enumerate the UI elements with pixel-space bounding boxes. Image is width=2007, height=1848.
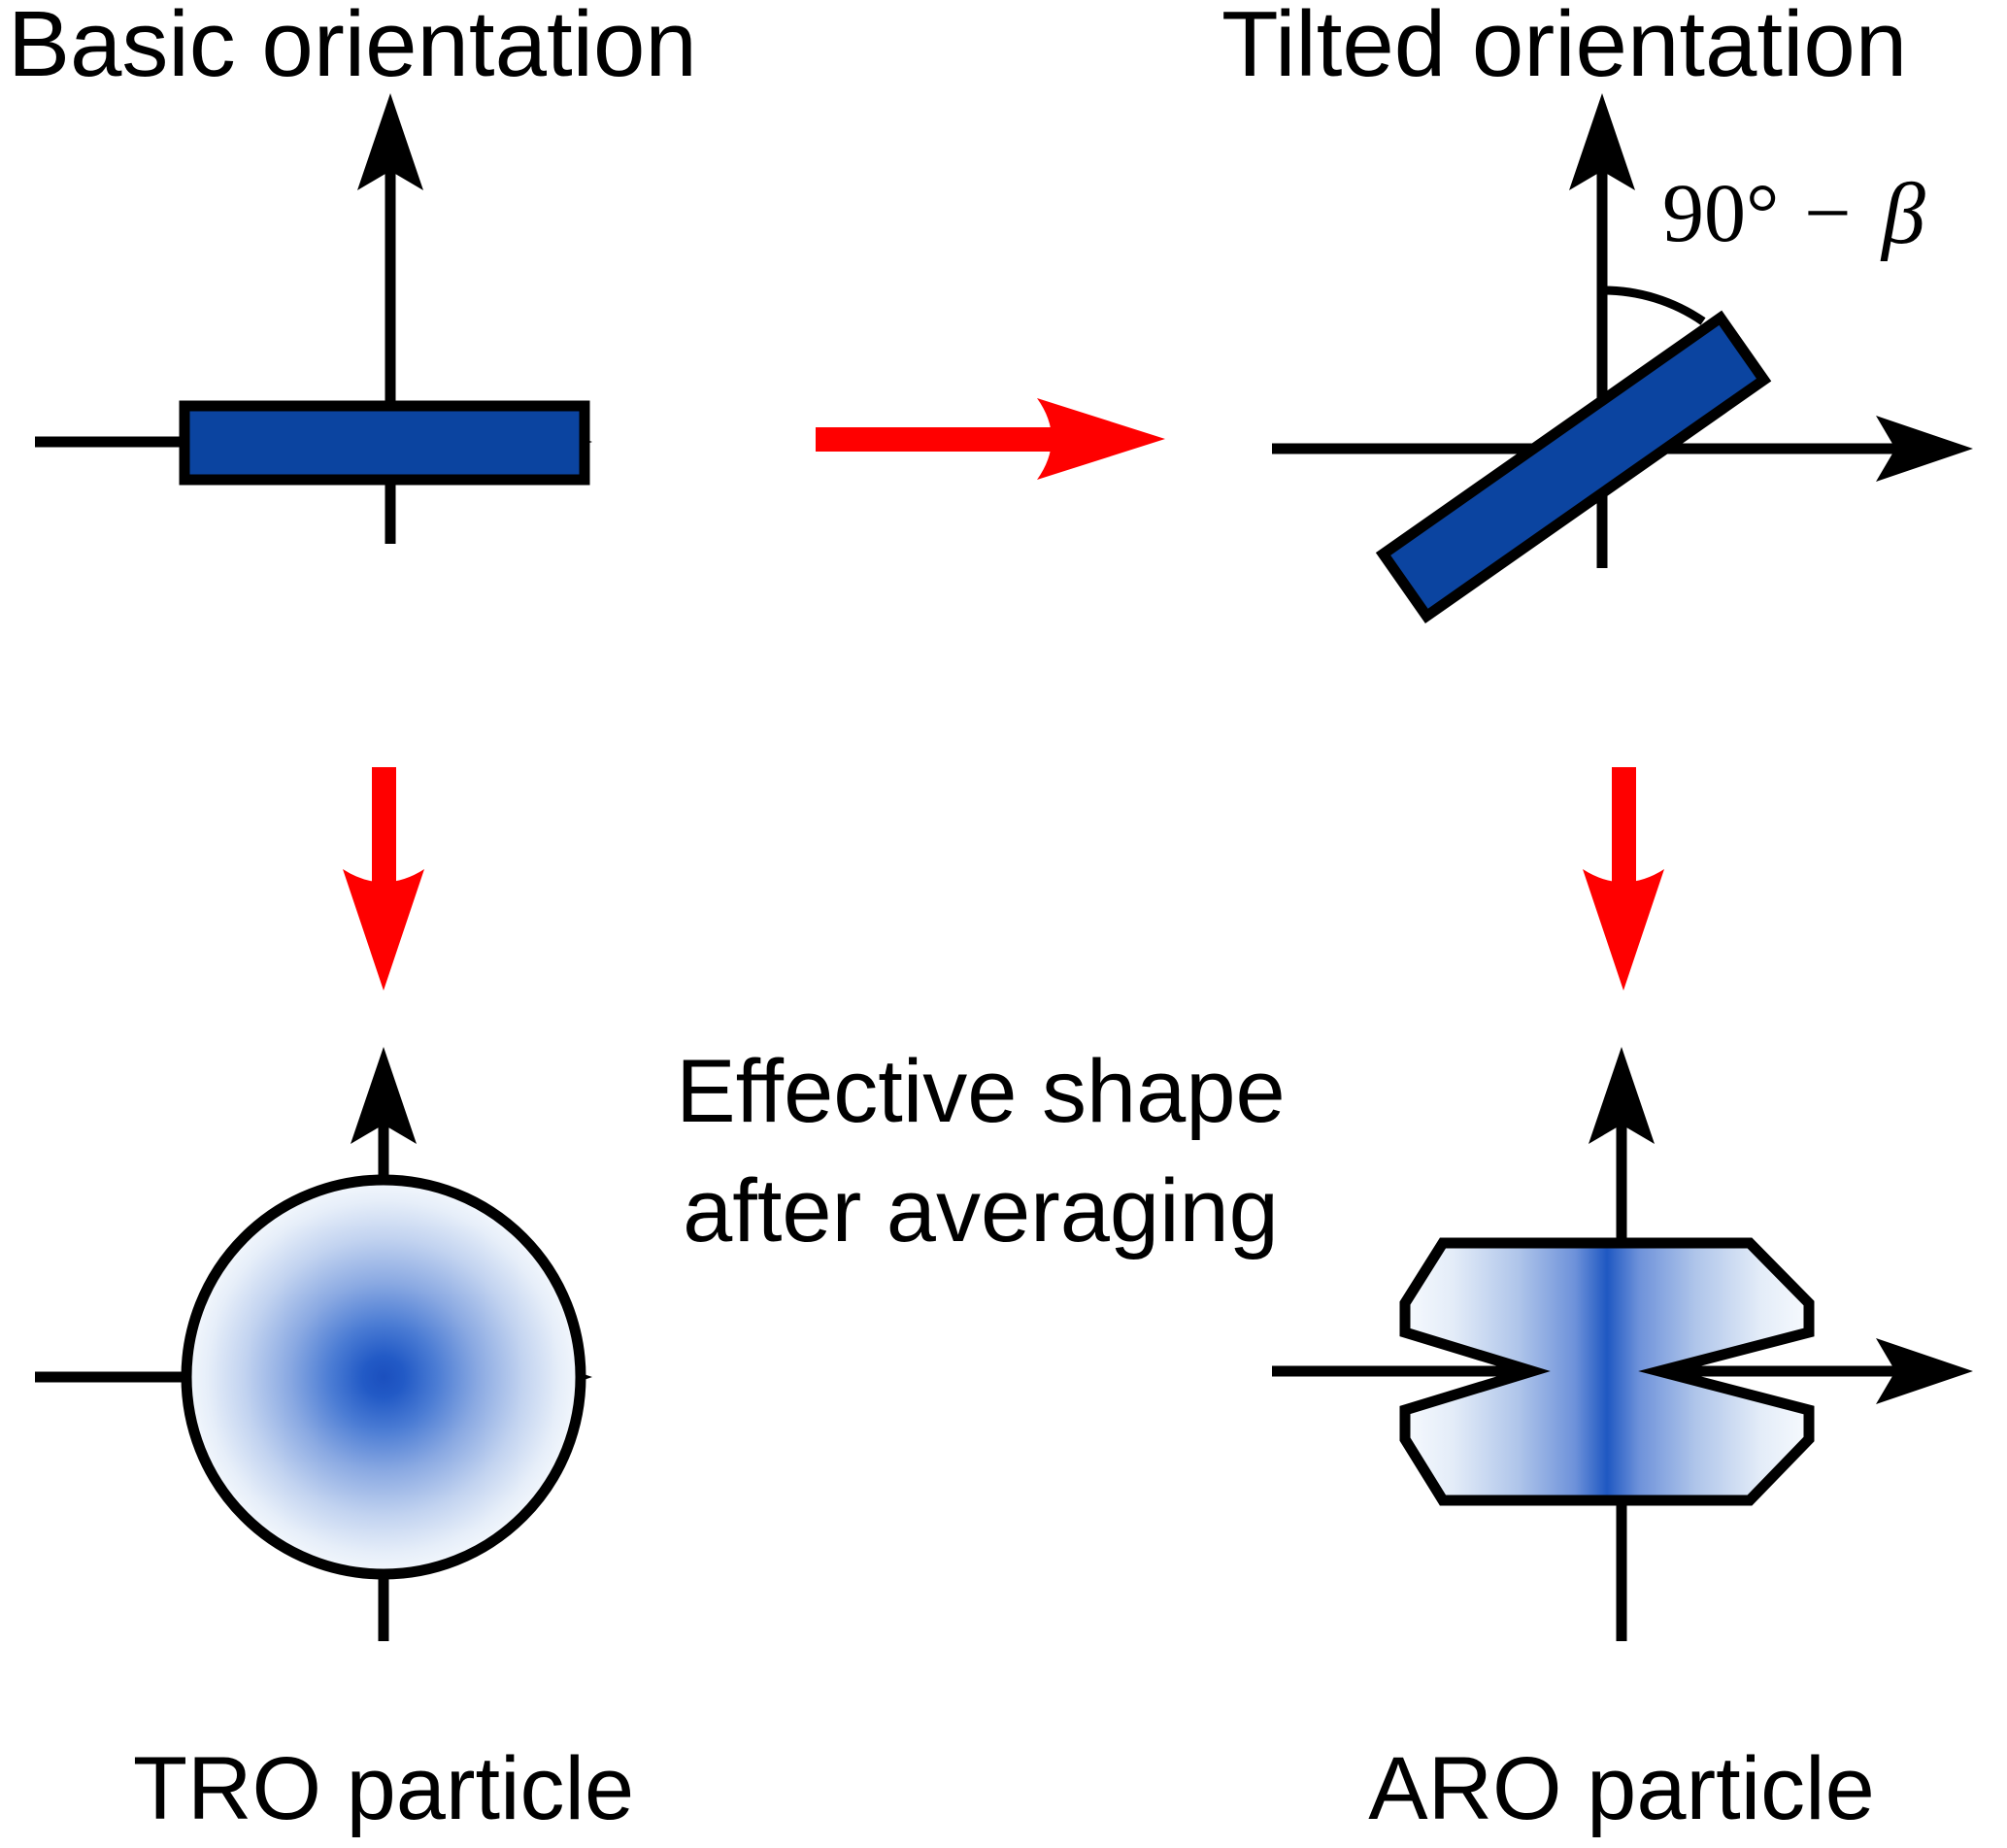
right-down-arrow-shaft (1612, 767, 1636, 887)
orientation-averaging-diagram: Basic orientation Tilted orientation (0, 0, 2007, 1848)
left-down-arrow-shaft (372, 767, 396, 887)
aro-particle-caption: ARO particle (1368, 1739, 1875, 1838)
tilted-orientation-heading: Tilted orientation (1221, 0, 1907, 96)
angle-operator-label: − (1804, 166, 1852, 259)
tro-particle-caption: TRO particle (133, 1739, 634, 1838)
angle-value-label: 90° (1662, 166, 1779, 259)
figure-background (0, 0, 2007, 1848)
effective-shape-note-line1: Effective shape (676, 1042, 1285, 1141)
basic-orientation-heading: Basic orientation (8, 0, 697, 96)
effective-shape-note-line2: after averaging (683, 1161, 1279, 1260)
tro-particle-circle (186, 1180, 581, 1574)
horizontal-arrow-shaft (816, 427, 1056, 452)
angle-beta-symbol: β (1880, 166, 1925, 262)
figure-root: Basic orientation Tilted orientation (0, 0, 2007, 1848)
basic-orientation-rod (184, 406, 585, 480)
